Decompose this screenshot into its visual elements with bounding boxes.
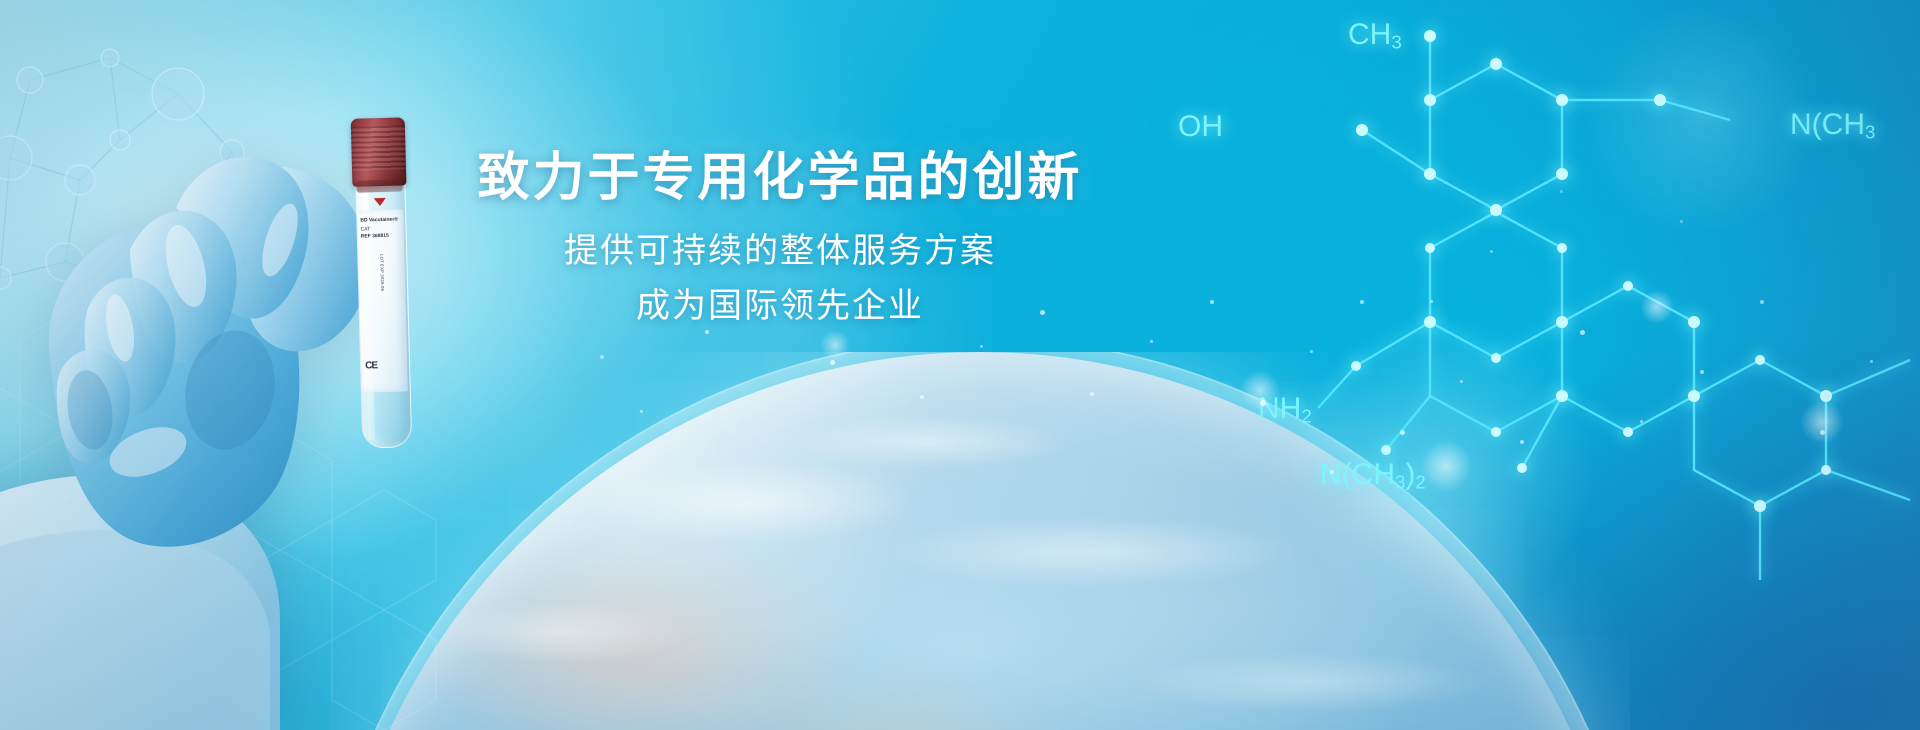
banner-copy: 致力于专用化学品的创新 提供可持续的整体服务方案 成为国际领先企业 (0, 150, 1560, 334)
chem-label-ch3: CH3 (1348, 18, 1402, 54)
page-title: 致力于专用化学品的创新 (0, 150, 1560, 206)
subtitle-line-2: 成为国际领先企业 (0, 279, 1560, 334)
hero-banner: BD Vacutainer® CAT REF 368815 LOT EXP 20… (0, 0, 1920, 730)
chem-label-oh: OH (1178, 110, 1223, 144)
ce-mark-icon: CE (365, 360, 377, 371)
chem-label-nch3-upper: N(CH3 (1790, 108, 1875, 144)
subtitle-line-1: 提供可持续的整体服务方案 (0, 224, 1560, 279)
chem-label-nch3-lower: N(CH3)2 (1320, 458, 1426, 494)
chem-label-nh2: NH2 (1258, 392, 1312, 428)
